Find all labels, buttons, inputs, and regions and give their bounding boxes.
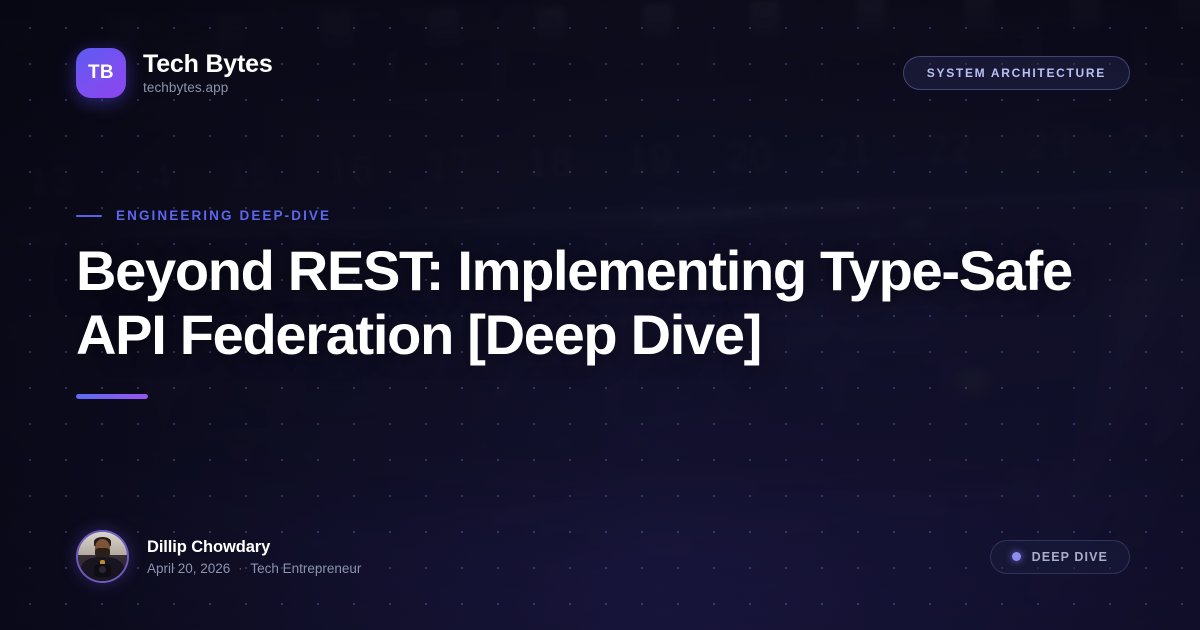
content-type-pill[interactable]: DEEP DIVE [990,540,1130,574]
brand-name: Tech Bytes [143,51,273,77]
kicker-dash-icon [76,215,102,217]
hero-block: ENGINEERING DEEP-DIVE Beyond REST: Imple… [76,208,1124,399]
status-dot-icon [1012,552,1021,561]
content-type-label: DEEP DIVE [1032,550,1108,564]
publish-date: April 20, 2026 [147,561,230,576]
brand-text-block: Tech Bytes techbytes.app [143,51,273,94]
kicker-row: ENGINEERING DEEP-DIVE [76,208,1124,223]
author-meta: Dillip Chowdary April 20, 2026 · Tech En… [147,538,361,576]
accent-underline-bar [76,394,148,399]
brand-logo-tile: TB [76,48,126,98]
author-sub-meta: April 20, 2026 · Tech Entrepreneur [147,561,361,576]
card-content: TB Tech Bytes techbytes.app SYSTEM ARCHI… [0,0,1200,630]
page-title: Beyond REST: Implementing Type-Safe API … [76,239,1124,367]
author-name: Dillip Chowdary [147,538,361,557]
social-share-card: 13 14 15 16 17 18 19 20 21 22 23 24 10/1… [0,0,1200,630]
brand-logo-initials: TB [88,62,114,84]
card-header: TB Tech Bytes techbytes.app SYSTEM ARCHI… [76,48,1130,98]
avatar [76,530,129,583]
topic-badge[interactable]: SYSTEM ARCHITECTURE [903,56,1130,90]
brand-url: techbytes.app [143,80,273,95]
author-role: Tech Entrepreneur [250,561,361,576]
author-block[interactable]: Dillip Chowdary April 20, 2026 · Tech En… [76,530,361,583]
meta-separator: · [238,561,242,575]
kicker-label: ENGINEERING DEEP-DIVE [116,208,331,223]
brand-block[interactable]: TB Tech Bytes techbytes.app [76,48,273,98]
card-footer: Dillip Chowdary April 20, 2026 · Tech En… [76,530,1130,583]
